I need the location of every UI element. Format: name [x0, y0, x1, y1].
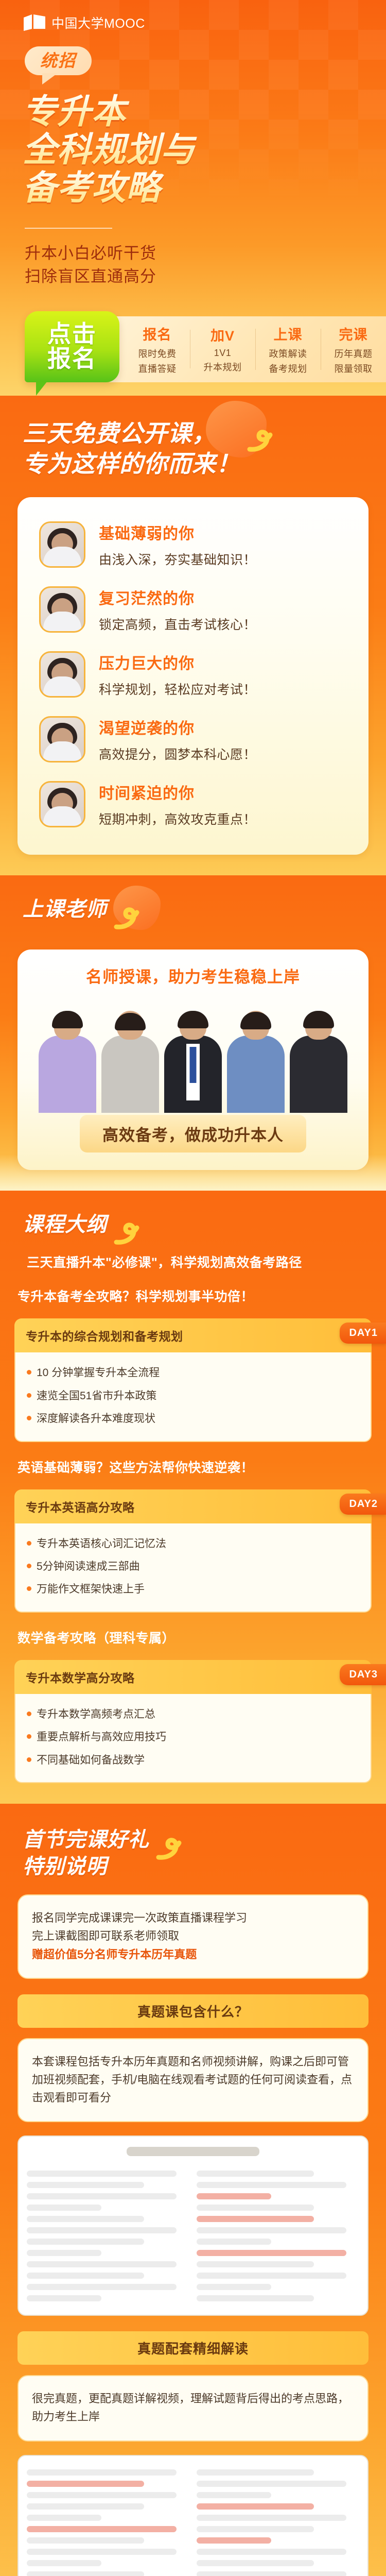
- outline-day-block[interactable]: 专升本英语高分攻略 DAY2 专升本英语核心词汇记忆法 5分钟阅读速成三部曲 万…: [14, 1489, 372, 1613]
- bullet-icon: [27, 1393, 31, 1398]
- hero-title-line-2: 全科规划与: [23, 131, 386, 169]
- step-item: 上课 政策解读 备考规划: [255, 324, 321, 375]
- bullet-icon: [27, 1370, 31, 1375]
- day-tag: DAY3: [340, 1664, 386, 1685]
- list-item-text: 万能作文框架快速上手: [37, 1582, 145, 1597]
- audience-item-desc: 高效提分，圆梦本科心愿！: [99, 744, 256, 763]
- step-title: 加V: [190, 325, 255, 345]
- gift-heading-line-2: 特别说明: [23, 1855, 107, 1878]
- course-screenshot-2: [17, 2455, 369, 2576]
- curl-decor-icon: [153, 1834, 183, 1861]
- audience-heading: 三天免费公开课， 专为这样的你而来！: [0, 418, 386, 480]
- step-sub-1: 限时免费: [125, 347, 190, 360]
- teacher-figure: [162, 1011, 224, 1113]
- step-sub-1: 历年真题: [321, 347, 386, 360]
- signup-button-line-2: 报名: [47, 347, 97, 371]
- gift-tag-1: 真题课包含什么？: [17, 1994, 369, 2028]
- teachers-card: 名师授课，助力考生稳稳上岸: [17, 950, 369, 1170]
- list-item-text: 速览全国51省市升本政策: [37, 1388, 156, 1404]
- list-item-text: 深度解读各升本难度现状: [37, 1411, 155, 1427]
- list-item: 专升本数学高频考点汇总: [27, 1703, 359, 1726]
- outline-section-title: 专升本备考全攻略？科学规划事半功倍！: [14, 1286, 372, 1305]
- teachers-section: 上课老师 名师授课，助力考生稳稳上岸: [0, 875, 386, 1191]
- avatar: [39, 781, 85, 827]
- bullet-icon: [27, 1711, 31, 1716]
- hero-subtitle-line-2: 扫除盲区直通高分: [25, 265, 386, 289]
- step-sub-2: 直播答疑: [125, 362, 190, 375]
- outline-list: 专升本备考全攻略？科学规划事半功倍！ 专升本的综合规划和备考规划 DAY1 10…: [0, 1286, 386, 1783]
- hero-section: 中国大学MOOC 统招 专升本 全科规划与 备考攻略 升本小白必听干货 扫除盲区…: [0, 0, 386, 396]
- audience-item-desc: 由浅入深，夯实基础知识！: [99, 550, 256, 568]
- audience-section: 三天免费公开课， 专为这样的你而来！ 基础薄弱的你 由浅入深，夯实基础知识！: [0, 396, 386, 876]
- audience-item-title: 复习茫然的你: [99, 586, 256, 608]
- step-sub-2: 限量领取: [321, 362, 386, 375]
- hero-badge-wrap: 统招: [0, 32, 386, 75]
- gift-note-card: 报名同学完成课课完一次政策直播课程学习 完上课截图即可联系老师领取 赠超价值5分…: [17, 1894, 369, 1979]
- outline-section-title: 英语基础薄弱？这些方法帮你快速逆袭！: [14, 1458, 372, 1476]
- gift-body-card-1: 本套课程包括专升本历年真题和名师视频讲解，购课之后即可管加班视频配套，手机/电脑…: [17, 2038, 369, 2123]
- outline-heading-text: 课程大纲: [23, 1211, 107, 1238]
- book-logo-icon: [23, 13, 46, 32]
- step-sub-1: 政策解读: [255, 347, 321, 360]
- outline-section: 课程大纲 三天直播升本"必修课"，科学规划高效备考路径 专升本备考全攻略？科学规…: [0, 1191, 386, 1804]
- day-tag: DAY2: [340, 1494, 386, 1515]
- step-title: 完课: [321, 324, 386, 344]
- audience-item: 基础薄弱的你 由浅入深，夯实基础知识！: [32, 513, 354, 578]
- teachers-heading-text: 上课老师: [23, 896, 107, 923]
- audience-item-title: 基础薄弱的你: [99, 521, 256, 544]
- bullet-icon: [27, 1564, 31, 1568]
- teacher-figure: [99, 1011, 161, 1113]
- audience-item-title: 压力巨大的你: [99, 651, 256, 673]
- outline-day-items: 专升本数学高频考点汇总 重要点解析与高效应用技巧 不同基础如何备战数学: [14, 1694, 372, 1783]
- teachers-subtitle: 名师授课，助力考生稳稳上岸: [86, 968, 300, 986]
- teacher-figure: [225, 1011, 287, 1113]
- hero-badge: 统招: [25, 46, 92, 75]
- audience-item-title: 时间紧迫的你: [99, 781, 256, 803]
- course-screenshot-1: [17, 2136, 369, 2316]
- outline-day-block[interactable]: 专升本数学高分攻略 DAY3 专升本数学高频考点汇总 重要点解析与高效应用技巧 …: [14, 1660, 372, 1783]
- signup-button[interactable]: 点击 报名: [25, 311, 119, 382]
- brand-header: 中国大学MOOC: [0, 0, 386, 32]
- hero-title-line-3: 备考攻略: [23, 169, 386, 207]
- audience-item: 复习茫然的你 锁定高频，直击考试核心！: [32, 578, 354, 642]
- hero-divider: [25, 228, 112, 229]
- steps-bar: 报名 限时免费 直播答疑 加V 1V1 升本规划 上课 政策解读 备考规划: [101, 316, 386, 382]
- list-item: 10 分钟掌握专升本全流程: [27, 1362, 359, 1384]
- gift-heading-line-1: 首节完课好礼: [23, 1828, 149, 1851]
- bullet-icon: [27, 1734, 31, 1739]
- landing-page: 中国大学MOOC 统招 专升本 全科规划与 备考攻略 升本小白必听干货 扫除盲区…: [0, 0, 386, 2576]
- list-item-text: 重要点解析与高效应用技巧: [37, 1730, 166, 1745]
- gift-note-3: 赠超价值5分名师专升本历年真题: [32, 1945, 354, 1963]
- audience-item-desc: 短期冲刺，高效攻克重点！: [99, 809, 256, 828]
- audience-heading-line-2: 专为这样的你而来！: [23, 450, 240, 477]
- list-item-text: 专升本英语核心词汇记忆法: [37, 1536, 166, 1552]
- gift-body-card-2: 很完真题，更配真题详解视频，理解试题背后得出的考点思路，助力考生上岸: [17, 2375, 369, 2441]
- hero-badge-text: 统招: [40, 52, 76, 69]
- step-title: 上课: [255, 324, 321, 344]
- audience-item-title: 渴望逆袭的你: [99, 716, 256, 738]
- teacher-photo-row: [17, 990, 369, 1113]
- audience-item: 渴望逆袭的你 高效提分，圆梦本科心愿！: [32, 707, 354, 772]
- teachers-heading: 上课老师: [0, 896, 386, 931]
- day-tag: DAY1: [340, 1323, 386, 1344]
- outline-section-title: 数学备考攻略（理科专属）: [14, 1628, 372, 1647]
- avatar: [39, 651, 85, 698]
- list-item-text: 5分钟阅读速成三部曲: [37, 1559, 140, 1574]
- step-item: 报名 限时免费 直播答疑: [125, 324, 190, 375]
- outline-day-items: 专升本英语核心词汇记忆法 5分钟阅读速成三部曲 万能作文框架快速上手: [14, 1523, 372, 1613]
- gift-section: 首节完课好礼 特别说明 报名同学完成课课完一次政策直播课程学习 完上课截图即可联…: [0, 1804, 386, 2576]
- hero-subtitle: 升本小白必听干货 扫除盲区直通高分: [0, 207, 386, 289]
- audience-item-desc: 科学规划，轻松应对考试！: [99, 680, 256, 698]
- step-sub-2: 备考规划: [255, 362, 321, 375]
- curl-decor-icon: [244, 426, 274, 453]
- list-item: 专升本英语核心词汇记忆法: [27, 1533, 359, 1555]
- gift-body-2: 很完真题，更配真题详解视频，理解试题背后得出的考点思路，助力考生上岸: [32, 2389, 354, 2426]
- list-item-text: 10 分钟掌握专升本全流程: [37, 1365, 160, 1381]
- teachers-subtitle-wrap: 名师授课，助力考生稳稳上岸: [17, 950, 369, 990]
- teachers-pill: 高效备考，做成功升本人: [80, 1115, 306, 1153]
- avatar: [39, 521, 85, 568]
- hero-subtitle-line-1: 升本小白必听干货: [25, 242, 386, 265]
- list-item: 重要点解析与高效应用技巧: [27, 1726, 359, 1749]
- bullet-icon: [27, 1416, 31, 1420]
- outline-day-banner: 专升本的综合规划和备考规划: [14, 1318, 372, 1352]
- avatar: [39, 586, 85, 633]
- curl-decor-icon: [111, 1218, 141, 1246]
- step-item: 加V 1V1 升本规划: [190, 325, 255, 374]
- audience-heading-line-1: 三天免费公开课，: [23, 420, 216, 447]
- hero-cta-row: 点击 报名 报名 限时免费 直播答疑 加V 1V1 升本规划 上课: [0, 311, 386, 388]
- audience-card: 基础薄弱的你 由浅入深，夯实基础知识！ 复习茫然的你 锁定高频，直击考试核心！ …: [17, 497, 369, 855]
- step-sub-2: 升本规划: [190, 360, 255, 374]
- outline-day-block[interactable]: 专升本的综合规划和备考规划 DAY1 10 分钟掌握专升本全流程 速览全国51省…: [14, 1318, 372, 1442]
- avatar: [39, 716, 85, 762]
- hero-title: 专升本 全科规划与 备考攻略: [0, 75, 386, 207]
- gift-body-1: 本套课程包括专升本历年真题和名师视频讲解，购课之后即可管加班视频配套，手机/电脑…: [32, 2053, 354, 2107]
- outline-day-banner: 专升本英语高分攻略: [14, 1489, 372, 1523]
- audience-item-desc: 锁定高频，直击考试核心！: [99, 615, 256, 633]
- gift-note-1: 报名同学完成课课完一次政策直播课程学习: [32, 1909, 354, 1927]
- step-item: 完课 历年真题 限量领取: [321, 324, 386, 375]
- teacher-figure: [37, 1011, 98, 1113]
- gift-note-2: 完上课截图即可联系老师领取: [32, 1927, 354, 1945]
- list-item: 万能作文框架快速上手: [27, 1578, 359, 1601]
- step-sub-1: 1V1: [190, 348, 255, 359]
- curl-decor-icon: [111, 903, 141, 931]
- step-title: 报名: [125, 324, 190, 344]
- list-item: 不同基础如何备战数学: [27, 1749, 359, 1772]
- audience-item: 时间紧迫的你 短期冲刺，高效攻克重点！: [32, 772, 354, 837]
- bullet-icon: [27, 1541, 31, 1546]
- audience-item: 压力巨大的你 科学规划，轻松应对考试！: [32, 642, 354, 707]
- bullet-icon: [27, 1586, 31, 1591]
- bullet-icon: [27, 1757, 31, 1762]
- gift-heading: 首节完课好礼 特别说明: [0, 1826, 386, 1880]
- signup-button-line-1: 点击: [47, 322, 97, 347]
- list-item: 速览全国51省市升本政策: [27, 1385, 359, 1408]
- outline-heading: 课程大纲: [0, 1211, 386, 1246]
- list-item: 深度解读各升本难度现状: [27, 1408, 359, 1430]
- outline-day-items: 10 分钟掌握专升本全流程 速览全国51省市升本政策 深度解读各升本难度现状: [14, 1352, 372, 1442]
- gift-heading-text: 首节完课好礼 特别说明: [23, 1826, 149, 1880]
- audience-heading-text: 三天免费公开课， 专为这样的你而来！: [23, 418, 240, 480]
- hero-title-line-1: 专升本: [23, 93, 386, 131]
- list-item: 5分钟阅读速成三部曲: [27, 1555, 359, 1578]
- teacher-figure: [288, 1011, 349, 1113]
- outline-day-banner: 专升本数学高分攻略: [14, 1660, 372, 1694]
- list-item-text: 专升本数学高频考点汇总: [37, 1707, 155, 1722]
- list-item-text: 不同基础如何备战数学: [37, 1753, 145, 1768]
- brand-name: 中国大学MOOC: [51, 13, 145, 32]
- outline-subtitle: 三天直播升本"必修课"，科学规划高效备考路径: [24, 1252, 386, 1271]
- gift-tag-2: 真题配套精细解读: [17, 2331, 369, 2365]
